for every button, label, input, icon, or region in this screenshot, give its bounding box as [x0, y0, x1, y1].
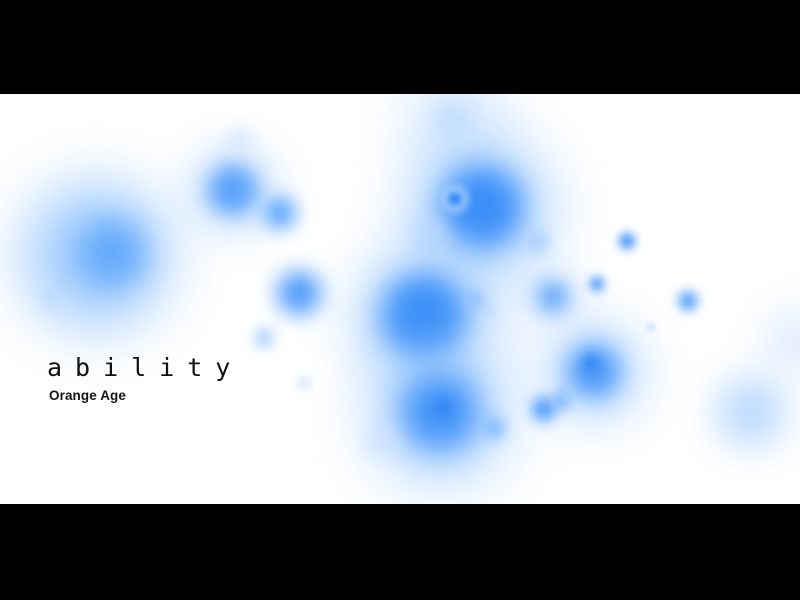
bokeh-circle-mid-left-bright: [209, 166, 257, 214]
bokeh-circle-top-right-large-halo: [412, 142, 548, 278]
bokeh-circle-ring-circle-outer: [441, 185, 469, 213]
bokeh-circle-lower-right-inner: [583, 355, 599, 371]
bokeh-circle-right-high-dot: [619, 233, 635, 249]
brand-subtitle: Orange Age: [49, 389, 243, 403]
letterbox-bar-bottom: [0, 504, 800, 600]
bokeh-circle-lower-right-speck: [559, 385, 565, 391]
bokeh-circle-right-far-dot: [679, 292, 697, 310]
title-block: ability Orange Age: [47, 355, 243, 403]
video-frame: ability Orange Age: [0, 0, 800, 600]
bokeh-circle-bottom-big-core: [402, 374, 478, 450]
bokeh-circle-right-small-dot: [590, 277, 604, 291]
bokeh-circle-left-large-core: [80, 221, 144, 285]
bokeh-circle-bottom-pair-b: [554, 393, 570, 409]
bokeh-circle-center-left-tiny: [255, 329, 273, 347]
bokeh-circle-center-edge-dot2: [483, 304, 495, 316]
bokeh-circle-upper-faint-dot: [229, 129, 251, 151]
artwork-band: ability Orange Age: [0, 94, 800, 504]
bokeh-circle-left-of-cluster-soft: [414, 219, 446, 251]
bokeh-circle-left-small-dot: [41, 288, 59, 306]
bokeh-circle-center-left-round: [277, 271, 321, 315]
bokeh-circle-cluster-small-right: [528, 232, 548, 252]
bokeh-circle-bottom-right-dot: [483, 417, 505, 439]
bokeh-circle-right-speck: [648, 324, 654, 330]
bokeh-circle-layer: [0, 94, 800, 504]
brand-title: ability: [47, 355, 243, 380]
bokeh-circle-top-right-large-core: [442, 167, 522, 247]
bokeh-circle-right-mid-dot: [538, 282, 568, 312]
bokeh-circle-edge-right-pale: [767, 312, 800, 372]
bokeh-circle-top-pale-ring: [436, 102, 468, 134]
bokeh-circle-mid-left-bright-halo: [191, 148, 275, 232]
bokeh-circle-left-large-halo: [24, 184, 168, 328]
bokeh-circle-lower-right-halo: [546, 324, 642, 420]
bokeh-circle-center-speck: [381, 283, 387, 289]
bokeh-circle-ring-circle-inner: [448, 192, 462, 206]
bokeh-circle-lower-right-core: [568, 345, 620, 397]
bokeh-circle-bottom-pair-a: [532, 397, 556, 421]
bokeh-circle-center-edge-dot: [465, 291, 483, 309]
bokeh-circle-center-big-core: [383, 275, 465, 357]
bokeh-circle-near-text-speck: [299, 378, 309, 388]
bokeh-circle-center-big-halo: [358, 252, 490, 384]
bokeh-circle-bottom-inner-dot: [434, 398, 452, 416]
bokeh-circle-mid-left-companion: [264, 197, 296, 229]
bokeh-circle-top-pale-big: [403, 94, 507, 170]
bokeh-circle-edge-right-soft: [718, 379, 784, 445]
letterbox-bar-top: [0, 0, 800, 94]
bokeh-circle-bottom-big-halo: [372, 346, 508, 482]
bokeh-circle-bottom-left-soft: [367, 426, 395, 454]
bokeh-circle-right-mid-halo: [526, 270, 580, 324]
